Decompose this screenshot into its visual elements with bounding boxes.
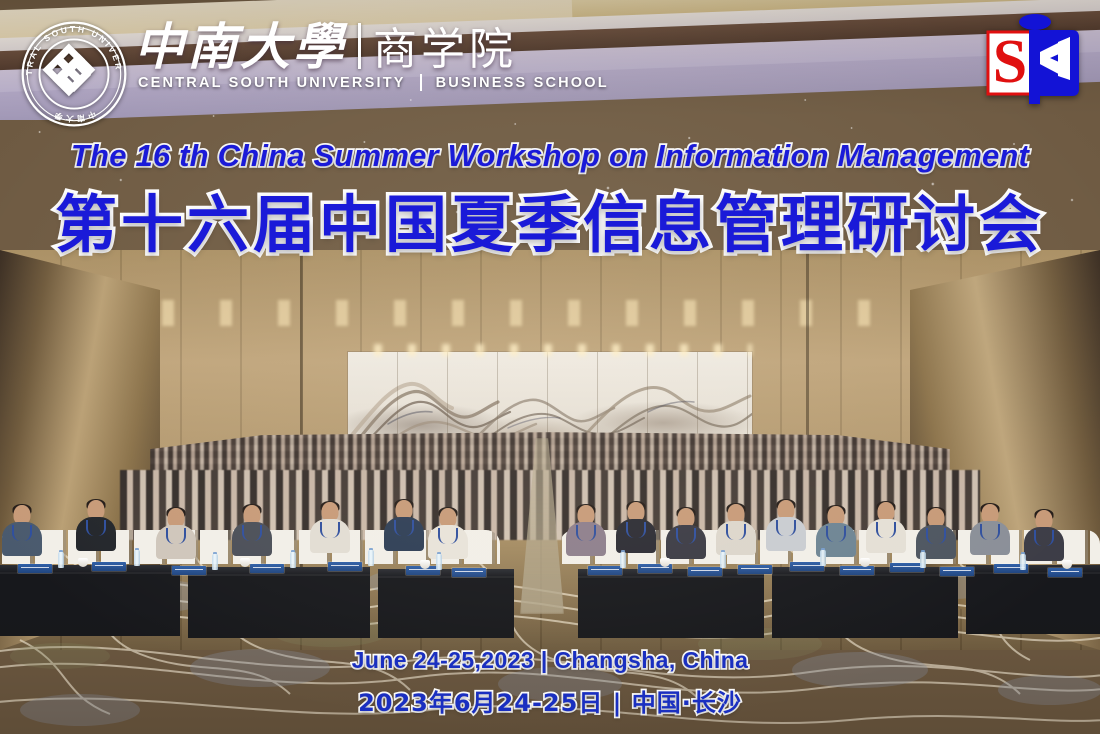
conference-footer: June 24-25,2023 | Changsha, China 2023年6… [0,647,1100,718]
name-plate [688,567,722,576]
name-plate [18,564,52,573]
head-table [0,572,180,636]
csu-name-en: CENTRAL SOUTH UNIVERSITY [138,75,406,91]
head-table [188,574,370,638]
head-table [378,576,514,638]
water-bottle [920,552,926,568]
csu-chinese-names: 中南大學 商学院 [134,22,609,72]
mural-wash-lights [348,344,752,356]
csu-wordmark: 中南大學 商学院 CENTRAL SOUTH UNIVERSITY BUSINE… [134,22,609,91]
name-plate [840,566,874,575]
csu-school-cn: 商学院 [373,28,517,72]
conference-title-chinese: 第十六届中国夏季信息管理研讨会 [0,192,1100,257]
water-bottle [134,550,140,566]
csu-name-cn: 中南大學 [134,22,346,72]
head-table [578,576,764,638]
name-plate [588,566,622,575]
name-plate [250,564,284,573]
csu-school-en: BUSINESS SCHOOL [436,75,609,91]
water-bottle [1020,554,1026,570]
name-plate [92,562,126,571]
head-table [966,572,1100,634]
cswim-logo-icon: S [984,6,1084,110]
water-bottle [58,552,64,568]
footer-date-location-english: June 24-25,2023 | Changsha, China [0,647,1100,674]
water-bottle [290,552,296,568]
conference-title-english: The 16 th China Summer Workshop on Infor… [0,138,1100,174]
water-bottle [820,550,826,566]
svg-text:S: S [993,28,1027,96]
name-plate [890,563,924,572]
name-plate [790,562,824,571]
water-bottle [212,554,218,570]
water-bottle [720,552,726,568]
csu-english-names: CENTRAL SOUTH UNIVERSITY BUSINESS SCHOOL [134,74,609,91]
water-bottle [368,550,374,566]
csu-en-divider [420,74,422,91]
name-plate [172,566,206,575]
head-table [772,574,958,638]
name-plate [1048,568,1082,577]
water-bottle [436,554,442,570]
water-bottle [620,552,626,568]
name-plate [940,567,974,576]
footer-date-location-chinese: 2023年6月24-25日 | 中国·长沙 [0,683,1100,718]
csu-seal-icon: CENTRAL SOUTH UNIVERSITY 中南大學 [18,18,130,130]
conference-poster: CENTRAL SOUTH UNIVERSITY 中南大學 中南大學 商学院 C… [0,0,1100,734]
name-plate [738,565,772,574]
name-plate [328,562,362,571]
name-plate [452,568,486,577]
csu-name-divider [358,23,361,69]
